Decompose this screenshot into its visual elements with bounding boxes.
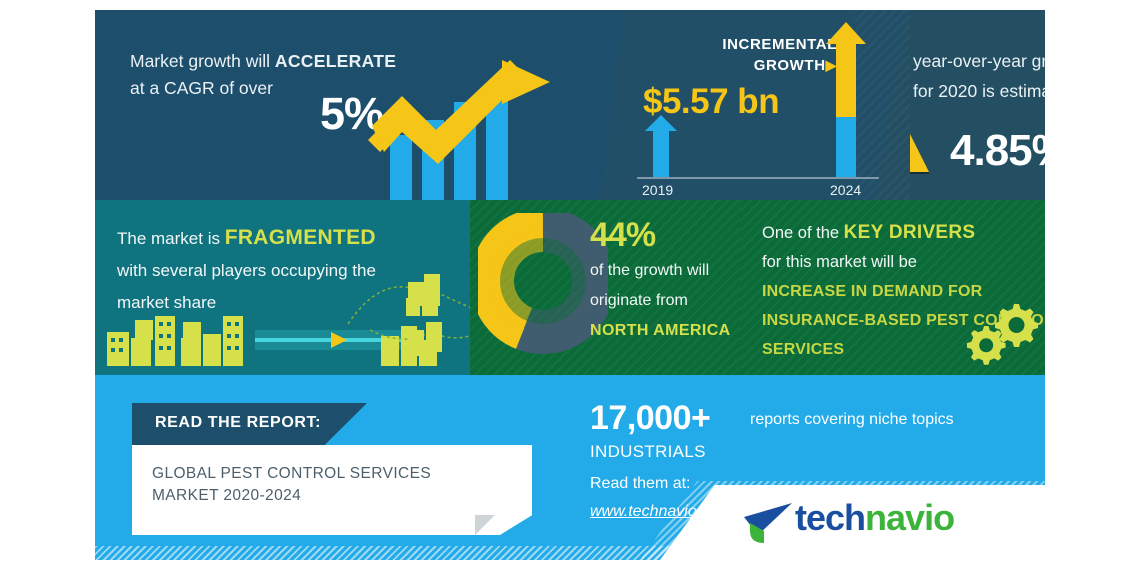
report-title-line1: GLOBAL PEST CONTROL SERVICES <box>152 465 431 482</box>
read-the-report-label: READ THE REPORT: <box>155 414 321 432</box>
bottom-row: READ THE REPORT: GLOBAL PEST CONTROL SER… <box>95 375 1045 560</box>
middle-row: The market is FRAGMENTED with several pl… <box>95 200 1045 375</box>
frag-line2: with several players occupying the <box>117 261 376 280</box>
growth-bar-chart-icon <box>350 60 600 200</box>
infographic-root: Market growth will ACCELERATE at a CAGR … <box>0 0 1140 570</box>
bar-2024-icon <box>825 22 867 177</box>
frag-prefix: The market is <box>117 229 225 248</box>
scattered-clusters-icon <box>340 272 470 372</box>
drv-driver-line3: SERVICES <box>762 341 844 358</box>
yoy-value: 4.85% <box>950 126 1045 176</box>
city-cluster-left-icon <box>107 316 243 366</box>
reports-count: 17,000+ <box>590 399 710 438</box>
card-fold-corner <box>475 515 495 535</box>
technavio-mark-icon <box>740 501 798 547</box>
report-title-line2: MARKET 2020-2024 <box>152 487 301 504</box>
year-label-2024: 2024 <box>830 182 861 198</box>
read-the-report-tab: READ THE REPORT: <box>132 403 367 445</box>
up-triangle-icon <box>910 128 933 174</box>
panel-fragmented: The market is FRAGMENTED with several pl… <box>95 200 470 375</box>
yoy-text: The year-over-year growth rate for 2020 … <box>910 46 1045 106</box>
donut-percent: 44% <box>590 214 740 256</box>
cagr-line1-prefix: Market growth will <box>130 51 275 71</box>
bottom-hatch-strip <box>95 546 1045 560</box>
bar-axis-line <box>637 177 887 179</box>
year-label-2019: 2019 <box>642 182 673 198</box>
frag-highlight: FRAGMENTED <box>225 226 376 249</box>
report-category: INDUSTRIALS <box>590 442 706 462</box>
incremental-growth-label: INCREMENTAL GROWTH▶ <box>647 35 837 76</box>
panel-donut: 44% of the growth will originate from NO… <box>470 200 740 375</box>
bar-2019-icon <box>645 115 679 177</box>
yoy-line2: rate for 2020 is estimated at <box>910 81 1045 101</box>
gears-icon <box>962 298 1045 368</box>
incr-label-line1: INCREMENTAL <box>722 36 837 53</box>
logo-tech-part: tech <box>795 497 865 538</box>
drv-highlight: KEY DRIVERS <box>844 222 976 243</box>
donut-line2: originate from <box>590 292 688 309</box>
donut-line1: of the growth will <box>590 262 709 279</box>
yoy-line1: The year-over-year growth <box>910 51 1045 71</box>
donut-text: 44% of the growth will originate from NO… <box>590 214 740 346</box>
panel-yoy: The year-over-year growth rate for 2020 … <box>910 10 1045 200</box>
donut-chart <box>478 213 608 363</box>
drv-line2: for this market will be <box>762 253 917 271</box>
technavio-wordmark: technavio <box>795 497 954 539</box>
top-row: Market growth will ACCELERATE at a CAGR … <box>95 10 1045 200</box>
report-title: GLOBAL PEST CONTROL SERVICES MARKET 2020… <box>152 463 512 507</box>
drv-driver-line1: INCREASE IN DEMAND FOR <box>762 283 982 300</box>
drv-prefix: One of the <box>762 224 844 242</box>
cagr-line2: at a CAGR of over <box>130 78 273 98</box>
donut-region: NORTH AMERICA <box>590 322 731 339</box>
reports-tail-text: reports covering niche topics <box>750 411 954 429</box>
panel-incremental: INCREMENTAL GROWTH▶ $5.57 bn 2019 2024 <box>625 10 910 200</box>
read-them-at-label: Read them at: <box>590 475 691 493</box>
incr-label-line2: GROWTH <box>754 57 826 74</box>
panel-key-drivers: One of the KEY DRIVERS for this market w… <box>740 200 1045 375</box>
logo-navio-part: navio <box>865 497 954 538</box>
panel-cagr: Market growth will ACCELERATE at a CAGR … <box>95 10 625 200</box>
